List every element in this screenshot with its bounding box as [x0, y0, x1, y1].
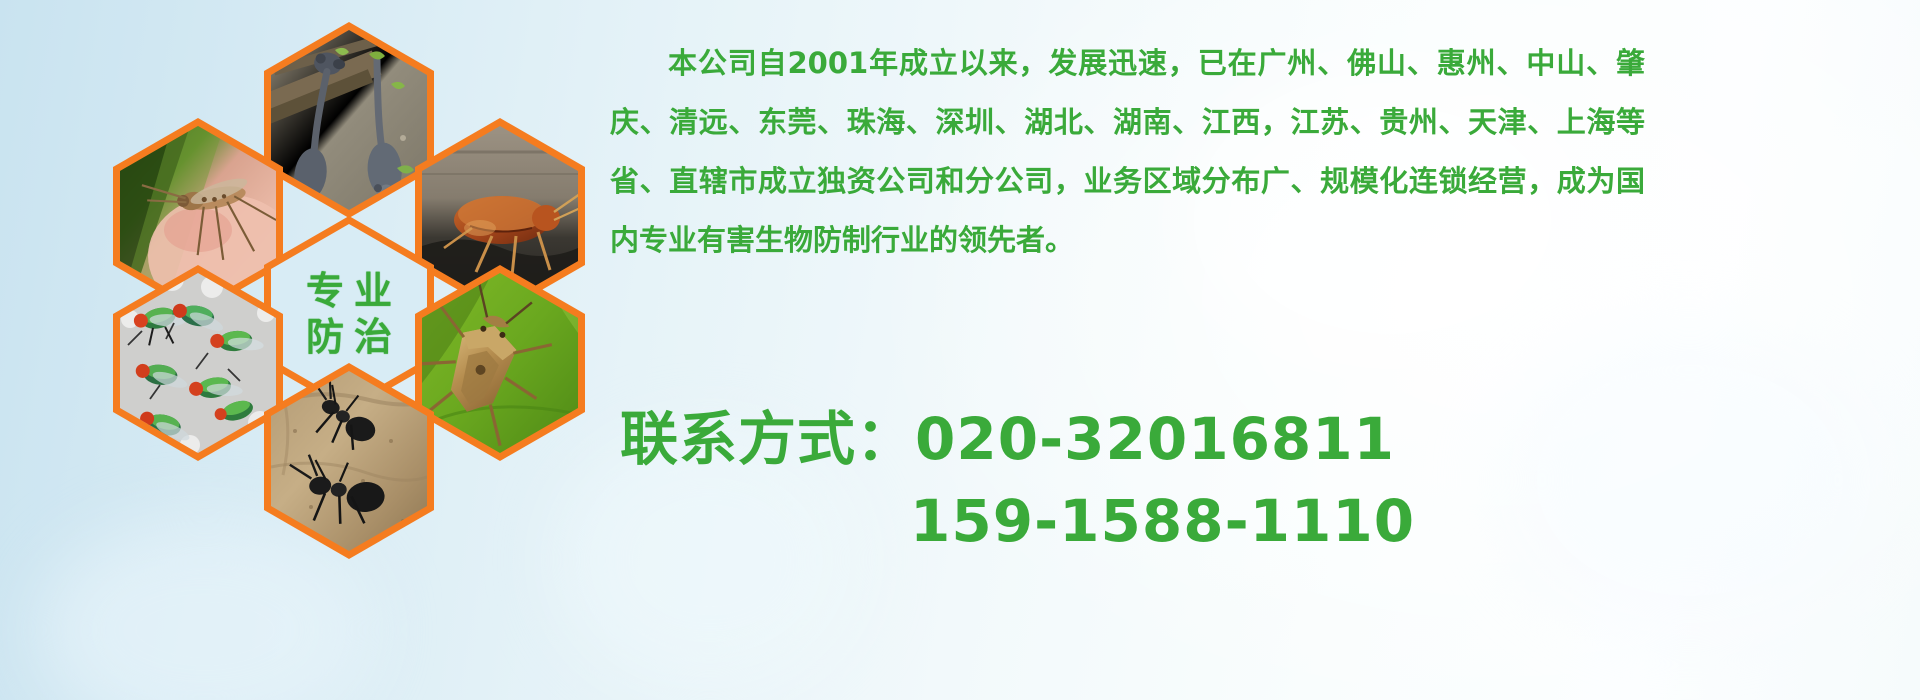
- honeycomb-cell-rats[interactable]: [264, 22, 434, 218]
- contact-line-primary[interactable]: 联系方式：020-32016811: [620, 398, 1400, 480]
- stinkbug-photo: [422, 273, 578, 453]
- honeycomb-gallery: 专业 防治: [0, 0, 620, 700]
- flies-photo: [120, 273, 276, 453]
- honeycomb-cell-stinkbug[interactable]: [415, 265, 585, 461]
- bg-blotch-2: [1500, 330, 1880, 630]
- contact-block: 联系方式：020-32016811 159-1588-1110: [620, 398, 1400, 562]
- honeycomb-cell-ants[interactable]: [264, 363, 434, 559]
- honeycomb-cell-flies[interactable]: [113, 265, 283, 461]
- company-intro-paragraph: 本公司自2001年成立以来，发展迅速，已在广州、佛山、惠州、中山、肇庆、清远、东…: [610, 34, 1645, 270]
- banner-canvas: 专业 防治: [0, 0, 1920, 700]
- ants-photo: [271, 371, 427, 551]
- rats-photo: [271, 30, 427, 210]
- badge-line-2: 防治: [296, 318, 402, 356]
- contact-line-secondary[interactable]: 159-1588-1110: [620, 480, 1400, 562]
- badge-line-1: 专业: [296, 272, 402, 310]
